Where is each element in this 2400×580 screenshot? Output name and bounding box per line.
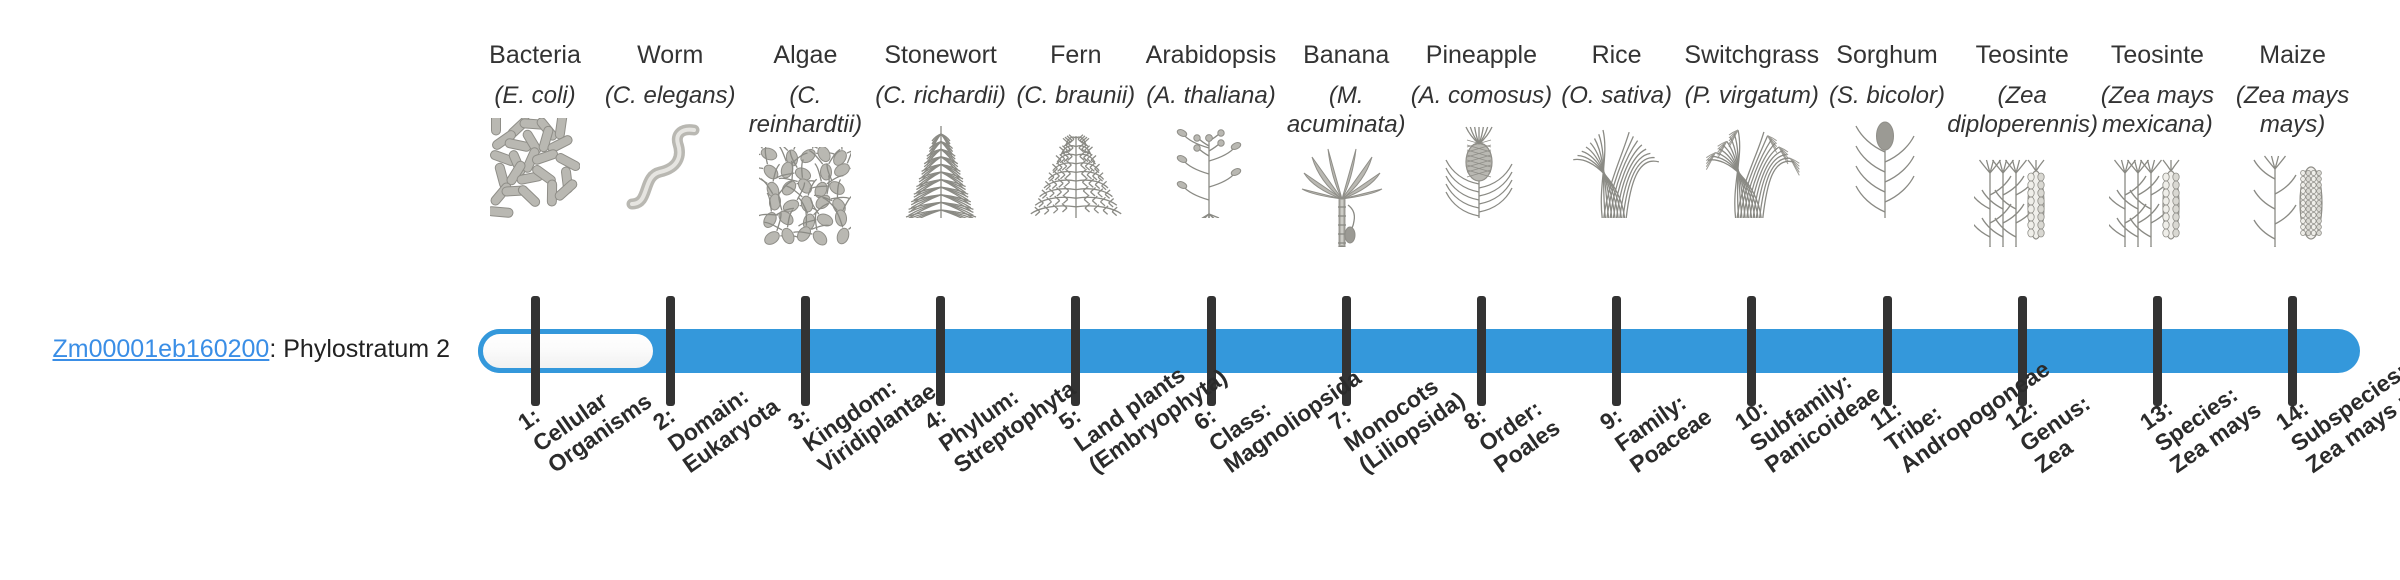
species-illustration-banana <box>1271 147 1421 252</box>
species-scientific-name: (A. thaliana) <box>1136 81 1286 110</box>
species-illustration-switchgrass <box>1677 118 1827 223</box>
species-illustration-fern <box>1001 118 1151 223</box>
species-common-name: Maize <box>2218 40 2368 71</box>
species-common-name: Stonewort <box>866 40 1016 71</box>
species-illustration-worm <box>595 118 745 223</box>
species-scientific-name: (M. acuminata) <box>1271 81 1421 140</box>
species-scientific-name: (C. reinhardtii) <box>730 81 880 140</box>
species-column-3: Algae(C. reinhardtii) <box>730 40 880 252</box>
species-column-6: Arabidopsis(A. thaliana) <box>1136 40 1286 223</box>
species-common-name: Pineapple <box>1406 40 1556 71</box>
species-illustration-teosinte <box>1947 147 2097 252</box>
species-illustration-maize <box>2218 147 2368 252</box>
species-illustration-pineapple <box>1406 118 1556 223</box>
species-column-12: Teosinte(Zea diploperennis) <box>1947 40 2097 252</box>
species-column-1: Bacteria(E. coli) <box>460 40 610 223</box>
species-illustration-algae <box>730 147 880 252</box>
species-illustration-sorghum <box>1812 118 1962 223</box>
species-common-name: Banana <box>1271 40 1421 71</box>
species-common-name: Teosinte <box>2082 40 2232 71</box>
species-column-14: Maize(Zea mays mays) <box>2218 40 2368 252</box>
species-scientific-name: (C. richardii) <box>866 81 1016 110</box>
species-common-name: Worm <box>595 40 745 71</box>
species-illustration-teosinte <box>2082 147 2232 252</box>
species-common-name: Switchgrass <box>1677 40 1827 71</box>
species-scientific-name: (Zea diploperennis) <box>1947 81 2097 140</box>
species-scientific-name: (S. bicolor) <box>1812 81 1962 110</box>
species-common-name: Arabidopsis <box>1136 40 1286 71</box>
species-column-8: Pineapple(A. comosus) <box>1406 40 1556 223</box>
species-scientific-name: (P. virgatum) <box>1677 81 1827 110</box>
species-column-13: Teosinte(Zea mays mexicana) <box>2082 40 2232 252</box>
species-column-5: Fern(C. braunii) <box>1001 40 1151 223</box>
species-common-name: Fern <box>1001 40 1151 71</box>
phylostratum-value: Phylostratum 2 <box>283 335 450 363</box>
species-scientific-name: (O. sativa) <box>1542 81 1692 110</box>
species-scientific-name: (Zea mays mexicana) <box>2082 81 2232 140</box>
species-scientific-name: (A. comosus) <box>1406 81 1556 110</box>
species-column-9: Rice(O. sativa) <box>1542 40 1692 223</box>
species-column-2: Worm(C. elegans) <box>595 40 745 223</box>
species-illustration-stonewort <box>866 118 1016 223</box>
gene-phylostratum-label: Zm00001eb160200: Phylostratum 2 <box>0 336 450 364</box>
gene-id-link[interactable]: Zm00001eb160200 <box>52 335 269 363</box>
species-illustration-arabidopsis <box>1136 118 1286 223</box>
species-column-4: Stonewort(C. richardii) <box>866 40 1016 223</box>
species-illustration-bacteria <box>460 118 610 223</box>
species-column-7: Banana(M. acuminata) <box>1271 40 1421 252</box>
species-column-10: Switchgrass(P. virgatum) <box>1677 40 1827 223</box>
species-scientific-name: (C. braunii) <box>1001 81 1151 110</box>
species-column-11: Sorghum(S. bicolor) <box>1812 40 1962 223</box>
species-common-name: Teosinte <box>1947 40 2097 71</box>
species-common-name: Algae <box>730 40 880 71</box>
species-common-name: Bacteria <box>460 40 610 71</box>
species-illustration-rice <box>1542 118 1692 223</box>
species-common-name: Sorghum <box>1812 40 1962 71</box>
species-scientific-name: (C. elegans) <box>595 81 745 110</box>
gene-label-separator: : <box>269 335 283 363</box>
species-scientific-name: (E. coli) <box>460 81 610 110</box>
species-scientific-name: (Zea mays mays) <box>2218 81 2368 140</box>
species-common-name: Rice <box>1542 40 1692 71</box>
phylostratum-tick-1[interactable] <box>531 296 540 406</box>
